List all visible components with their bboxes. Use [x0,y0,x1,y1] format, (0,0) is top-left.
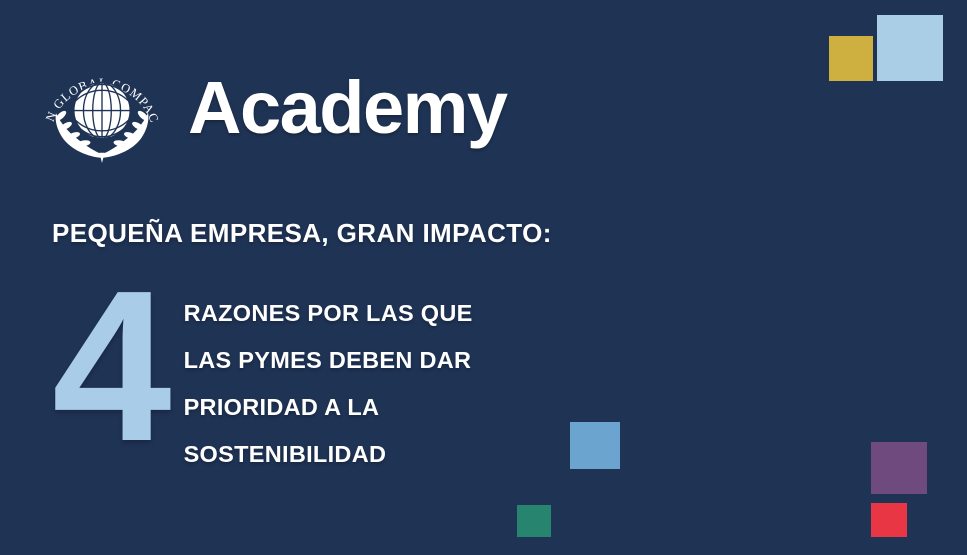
collage-photo-worker [770,85,967,445]
headline-block: 4 RAZONES POR LAS QUE LAS PYMES DEBEN DA… [52,276,473,478]
mosaic-tile-carton-small [570,472,620,537]
headline-line-1: RAZONES POR LAS QUE [184,290,473,337]
swatch-gold [829,36,873,81]
mosaic-tile-worker-large [770,85,967,445]
collage-photo-carton [570,472,620,537]
collage-photo-hose [625,142,768,400]
swatch-purple [871,442,927,494]
un-global-compact-globe-icon: UN GLOBAL COMPACT [38,44,166,172]
swatch-green [517,505,551,537]
academy-wordmark: Academy [188,71,507,145]
swatch-light-blue [877,15,943,81]
swatch-red [871,503,907,537]
headline-line-3: PRIORIDAD A LA [184,384,473,431]
swatch-medium-blue [570,422,620,469]
headline-line-4: SOSTENIBILIDAD [184,431,473,478]
banner-root: UN GLOBAL COMPACT [0,0,967,555]
collage-photo-bench [770,450,868,537]
mosaic-tile-hose-mid [625,142,768,400]
mosaic-tile-workbench-left [625,405,768,537]
mosaic-tile-hose-top-small [710,85,768,137]
collage-photo-hands [625,405,768,537]
headline-lines: RAZONES POR LAS QUE LAS PYMES DEBEN DAR … [184,290,473,478]
headline-number: 4 [52,282,166,450]
headline-line-2: LAS PYMES DEBEN DAR [184,337,473,384]
brand-lockup: UN GLOBAL COMPACT [38,44,507,172]
collage-photo-fragment [710,85,768,137]
mosaic-tile-bench-right [770,450,868,537]
headline-kicker: PEQUEÑA EMPRESA, GRAN IMPACTO: [52,219,552,248]
